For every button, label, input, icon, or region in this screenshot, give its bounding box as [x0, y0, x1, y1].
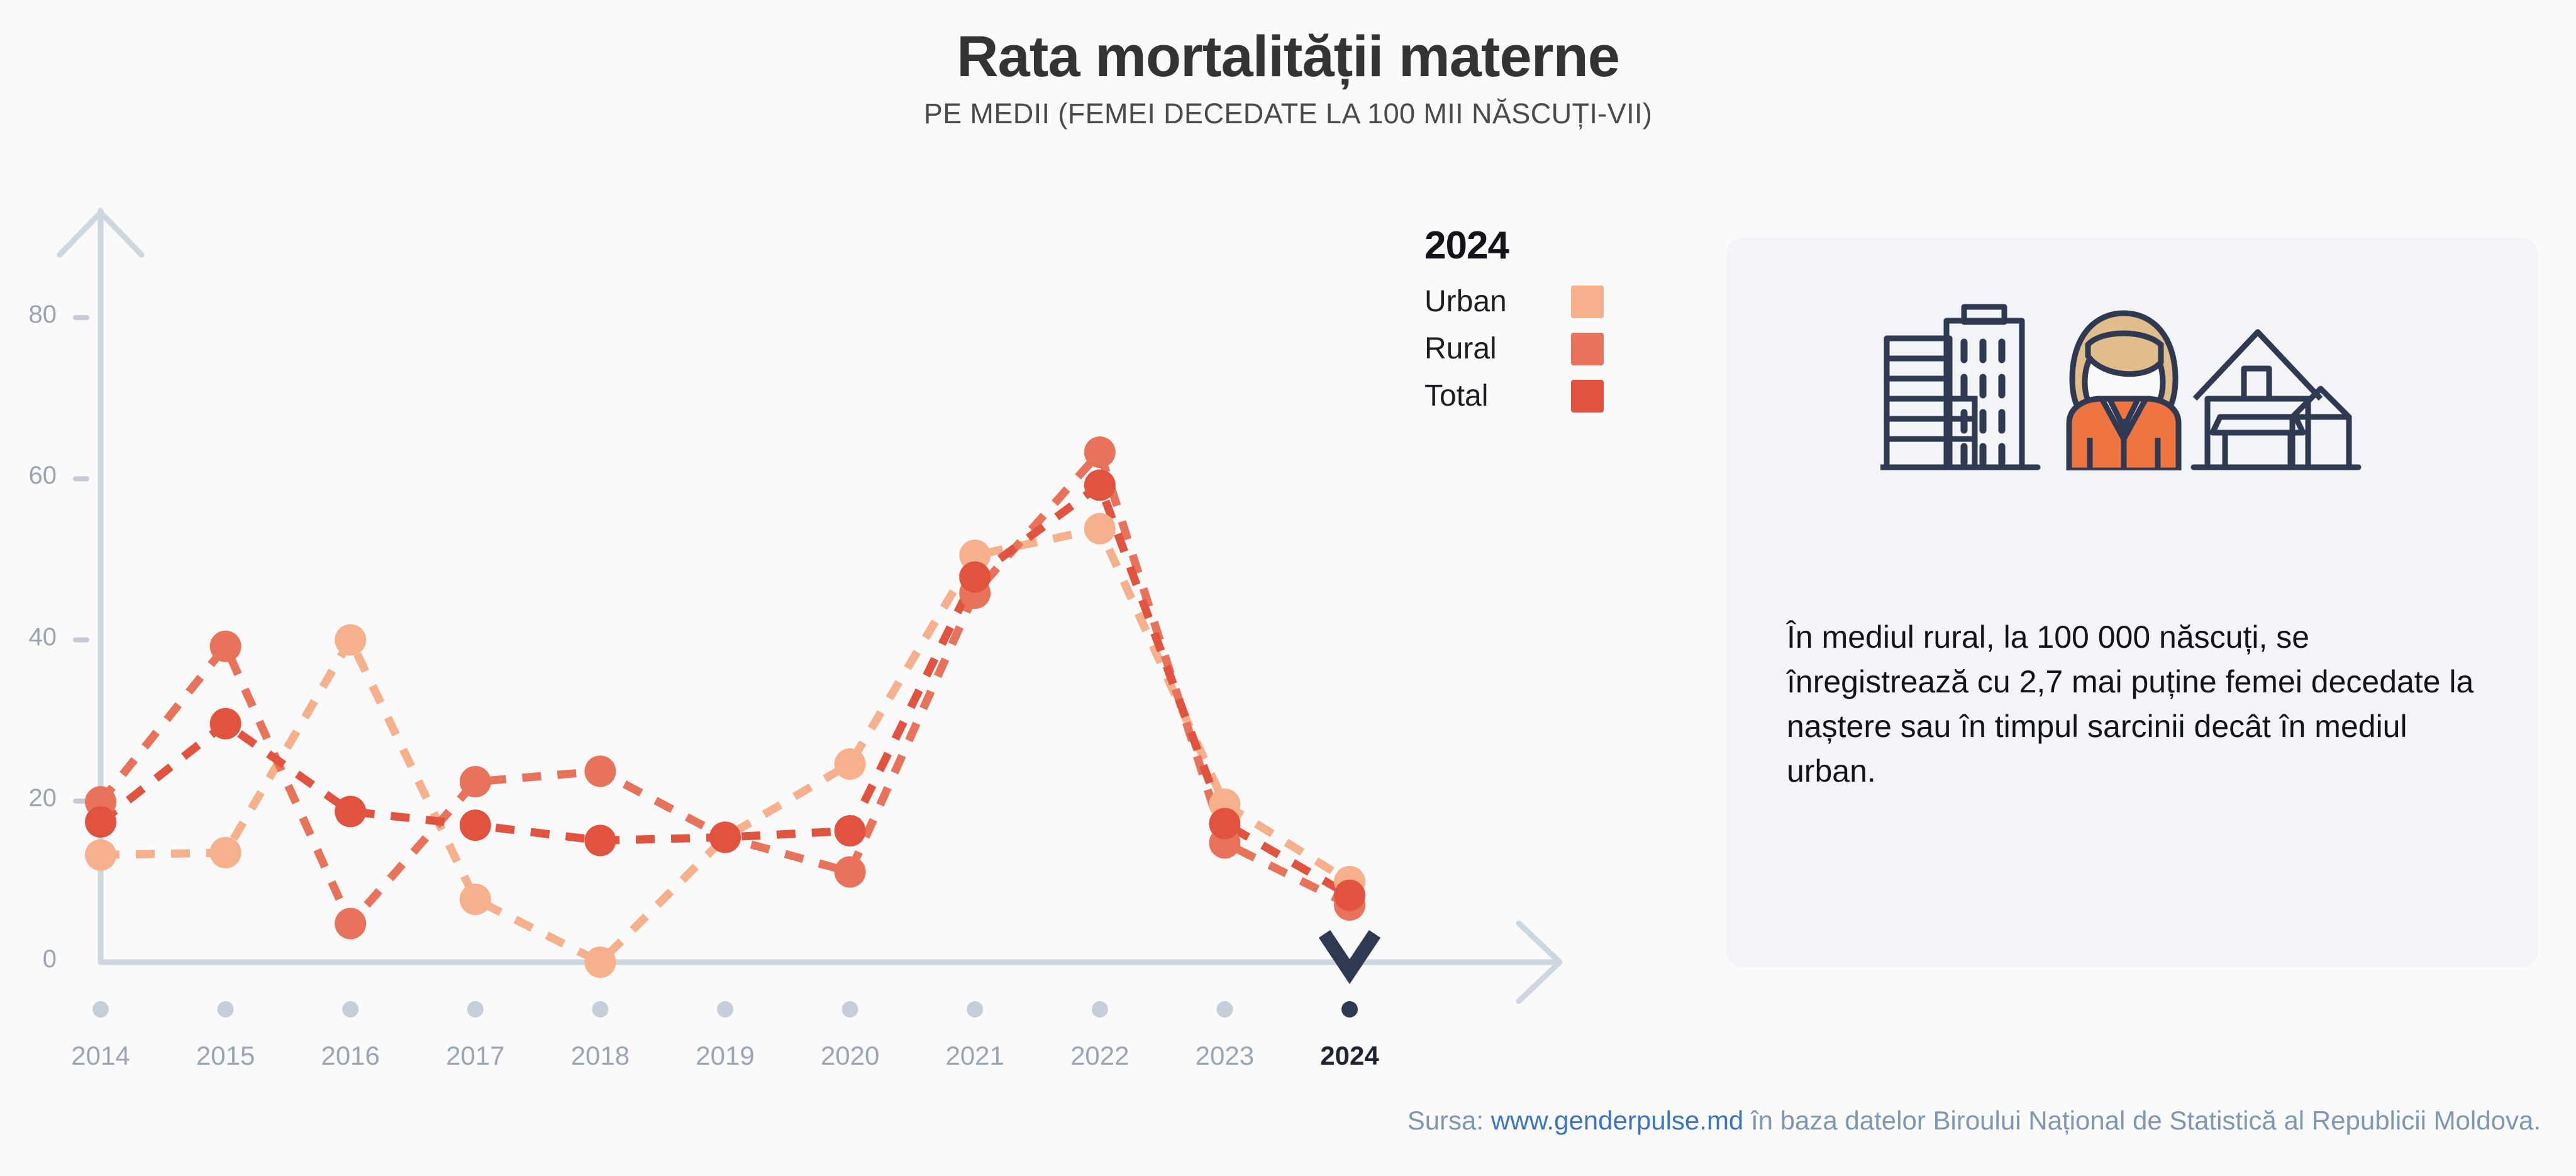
data-point-total-2020[interactable] — [835, 815, 866, 846]
data-point-urban-2022[interactable] — [1084, 513, 1116, 545]
x-tick-label-2019[interactable]: 2019 — [656, 1041, 794, 1071]
data-point-urban-2018[interactable] — [584, 946, 616, 978]
data-point-total-2016[interactable] — [335, 796, 366, 827]
x-tick-dot — [592, 1001, 608, 1018]
data-point-rural-2015[interactable] — [210, 631, 241, 662]
x-tick-dot — [717, 1001, 733, 1018]
x-tick-label-2018[interactable]: 2018 — [531, 1041, 669, 1071]
x-tick-label-2022[interactable]: 2022 — [1031, 1041, 1169, 1071]
chart-legend: 2024 UrbanRuralTotal — [1424, 223, 1626, 426]
data-point-urban-2015[interactable] — [210, 837, 241, 868]
legend-item-total[interactable]: Total — [1424, 379, 1604, 413]
legend-rows: UrbanRuralTotal — [1424, 284, 1626, 413]
y-tick-label: 60 — [0, 462, 57, 490]
chart-series-layer — [85, 436, 1365, 978]
y-tick-label: 40 — [0, 623, 57, 652]
data-point-total-2015[interactable] — [210, 708, 241, 740]
data-point-rural-2020[interactable] — [835, 857, 866, 888]
x-tick-label-2015[interactable]: 2015 — [157, 1041, 295, 1071]
x-tick-dot — [967, 1001, 983, 1018]
y-tick-label: 80 — [0, 301, 57, 329]
x-tick-label-2014[interactable]: 2014 — [31, 1041, 170, 1071]
x-tick-label-2016[interactable]: 2016 — [281, 1041, 419, 1071]
legend-swatch-urban — [1571, 286, 1604, 318]
x-tick-label-2024[interactable]: 2024 — [1280, 1041, 1419, 1071]
x-tick-label-2023[interactable]: 2023 — [1155, 1041, 1294, 1071]
source-footer: Sursa: www.genderpulse.md în baza datelo… — [0, 1106, 2576, 1136]
series-line-urban — [101, 529, 1350, 962]
data-point-total-2017[interactable] — [460, 809, 491, 841]
legend-item-label: Rural — [1424, 331, 1497, 366]
data-point-rural-2022[interactable] — [1084, 436, 1116, 468]
chart-header: Rata mortalității materne PE MEDII (FEME… — [0, 0, 2576, 130]
legend-item-label: Urban — [1424, 284, 1507, 319]
current-year-pointer — [1324, 934, 1375, 1018]
legend-item-label: Total — [1424, 379, 1488, 413]
legend-swatch-rural — [1571, 333, 1604, 365]
x-tick-dot — [1092, 1001, 1108, 1018]
legend-swatch-total — [1571, 380, 1604, 413]
x-tick-label-2020[interactable]: 2020 — [781, 1041, 919, 1071]
data-point-total-2014[interactable] — [85, 806, 116, 838]
page-subtitle: PE MEDII (FEMEI DECEDATE LA 100 MII NĂSC… — [0, 97, 2576, 130]
data-point-rural-2016[interactable] — [335, 908, 366, 940]
source-link[interactable]: www.genderpulse.md — [1491, 1106, 1744, 1135]
x-tick-label-2017[interactable]: 2017 — [406, 1041, 545, 1071]
source-suffix: în baza datelor Biroului Național de Sta… — [1743, 1106, 2541, 1135]
y-tick-label: 0 — [0, 945, 57, 974]
data-point-rural-2017[interactable] — [460, 766, 491, 797]
data-point-total-2022[interactable] — [1084, 470, 1116, 501]
data-point-urban-2017[interactable] — [460, 884, 491, 915]
insight-panel-text: În mediul rural, la 100 000 născuți, se … — [1787, 615, 2485, 794]
data-point-total-2019[interactable] — [709, 821, 741, 853]
x-tick-dots — [92, 1001, 1233, 1018]
legend-item-rural[interactable]: Rural — [1424, 331, 1604, 366]
legend-year-label: 2024 — [1424, 223, 1626, 268]
data-point-total-2023[interactable] — [1209, 808, 1240, 840]
x-tick-label-2021[interactable]: 2021 — [906, 1041, 1044, 1071]
data-point-urban-2020[interactable] — [835, 748, 866, 780]
data-point-urban-2014[interactable] — [85, 840, 116, 871]
x-tick-dot — [1216, 1001, 1233, 1018]
x-tick-dot — [92, 1001, 109, 1018]
y-tick-marks — [75, 318, 87, 801]
source-prefix: Sursa: — [1407, 1106, 1491, 1135]
insight-panel: În mediul rural, la 100 000 născuți, se … — [1726, 238, 2538, 967]
x-tick-dot — [218, 1001, 234, 1018]
x-tick-dot — [342, 1001, 358, 1018]
urban-rural-woman-illustration — [1880, 282, 2384, 474]
data-point-rural-2018[interactable] — [584, 755, 616, 787]
x-tick-dot — [842, 1001, 858, 1018]
page-title: Rata mortalității materne — [0, 26, 2576, 87]
data-point-total-2018[interactable] — [584, 825, 616, 857]
legend-item-urban[interactable]: Urban — [1424, 284, 1604, 319]
data-point-urban-2016[interactable] — [335, 624, 366, 656]
y-tick-label: 20 — [0, 784, 57, 813]
data-point-total-2024[interactable] — [1334, 880, 1365, 911]
x-tick-dot — [467, 1001, 484, 1018]
data-point-total-2021[interactable] — [959, 562, 991, 593]
